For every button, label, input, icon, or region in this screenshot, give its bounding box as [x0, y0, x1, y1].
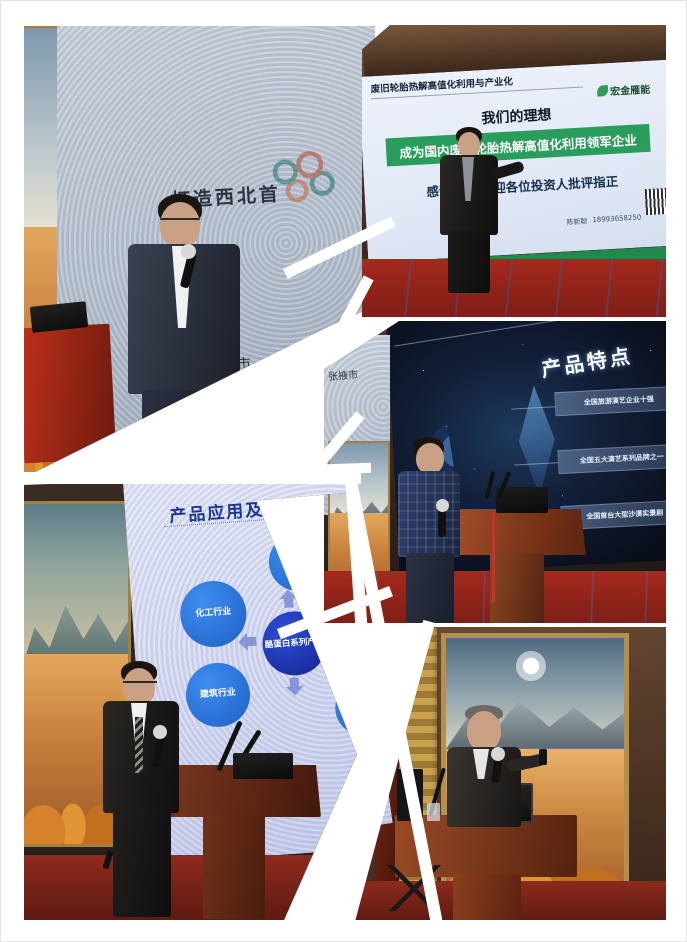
clicker-icon [102, 851, 113, 870]
separator-right [666, 1, 687, 942]
lectern-base [453, 875, 521, 921]
glasses-icon [123, 681, 157, 689]
sun-icon [514, 649, 548, 683]
speaker-person [441, 705, 545, 827]
podium-column [203, 815, 265, 919]
feature-text-3: 全国首台大型沙漠实景剧 [586, 508, 663, 522]
speaker-person [394, 437, 470, 623]
bubble-construction-text: 建筑行业 [200, 689, 237, 701]
company-logo-text: 宏金雁能 [610, 81, 651, 98]
qr-code-icon [645, 188, 666, 215]
arrow-right-icon [330, 626, 349, 645]
company-logo: 宏金雁能 [597, 81, 651, 99]
slide-title: 我们的理想 [481, 104, 552, 128]
projection-slide: 废旧轮胎热解高值化利用与产业化 宏金雁能 我们的理想 成为国内废旧轮胎热解高值化… [362, 60, 666, 263]
water-glass-icon [427, 803, 440, 821]
stage-seams [362, 259, 666, 317]
bubble-chem-text: 化工行业 [195, 608, 232, 620]
sliver-text: 张掖市 [328, 366, 359, 383]
clicker-icon [230, 380, 246, 388]
glasses-icon [160, 218, 200, 227]
podium [23, 324, 116, 464]
slide-contact-name: 陈新聪 [566, 216, 588, 227]
feature-text-1: 全国旅游演艺企业十强 [584, 394, 654, 408]
laptop-icon [233, 753, 293, 779]
separator-top [1, 1, 687, 25]
bubble-medical-text: 医药 [354, 703, 357, 712]
speaker-person [99, 661, 191, 917]
leaf-icon [597, 85, 609, 97]
podium-column [490, 553, 544, 623]
clicker-icon [539, 749, 547, 765]
photo-top-right[interactable]: 废旧轮胎热解高值化利用与产业化 宏金雁能 我们的理想 成为国内废旧轮胎热解高值化… [362, 23, 666, 317]
cable-run [492, 511, 495, 603]
bubble-food-text: 食品 [289, 557, 308, 568]
photo-bottom-left[interactable]: 产品应用及特点 化工行业 食品 电子行业 建筑行业 医药 酪蛋白 [23, 483, 357, 921]
feature-text-2: 全国五大演艺系列品牌之一 [580, 452, 664, 466]
podium [450, 509, 586, 555]
bubble-center-text: 酪蛋白系列产品 [265, 637, 325, 650]
photo-collage: 打造西北首 张掖市 [0, 0, 687, 942]
presenter-person [434, 127, 512, 292]
photo-bottom-right[interactable] [349, 627, 667, 921]
laptop-icon [496, 487, 548, 513]
speaker-person [118, 194, 268, 478]
